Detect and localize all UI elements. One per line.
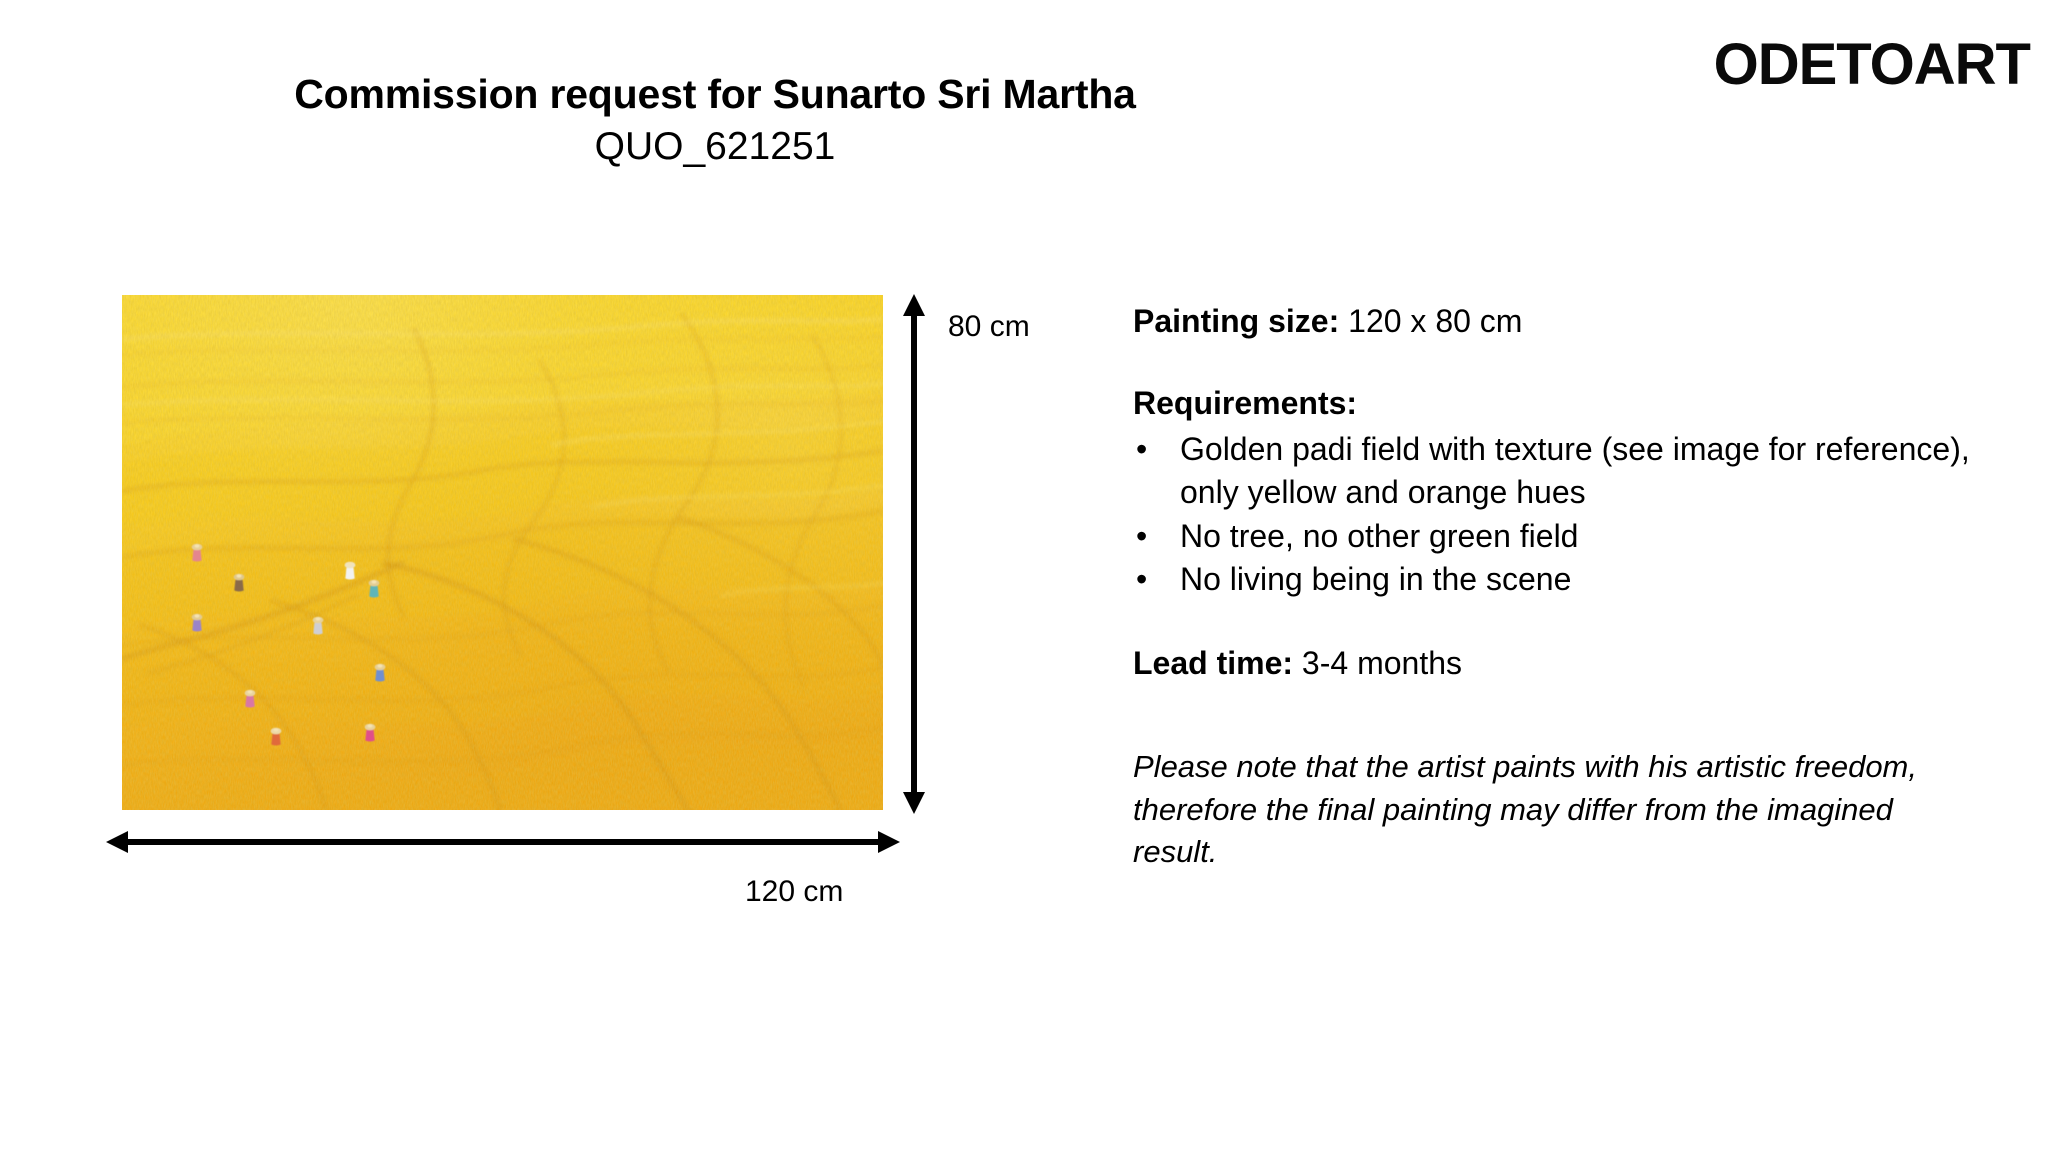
- farmer-figure: [375, 664, 386, 682]
- lead-time-label: Lead time:: [1133, 645, 1293, 681]
- bullet-icon: •: [1136, 428, 1147, 471]
- lead-time-row: Lead time: 3-4 months: [1133, 642, 1993, 684]
- farmer-figure: [345, 562, 356, 580]
- farmer-body: [245, 694, 254, 707]
- artistic-freedom-disclaimer: Please note that the artist paints with …: [1133, 746, 1923, 874]
- farmer-figure: [313, 617, 324, 635]
- list-item: • Golden padi field with texture (see im…: [1133, 428, 1993, 513]
- farmer-figure: [271, 728, 282, 746]
- farmer-figure: [245, 690, 256, 708]
- farmer-figure: [192, 614, 203, 632]
- farmer-figure: [369, 580, 380, 598]
- quote-number: QUO_621251: [0, 124, 1430, 171]
- farmer-figure: [192, 544, 203, 562]
- list-item-text: Golden padi field with texture (see imag…: [1180, 431, 1970, 510]
- list-item: • No tree, no other green field: [1133, 515, 1993, 558]
- list-item: • No living being in the scene: [1133, 558, 1993, 601]
- details-column: Painting size: 120 x 80 cm Requirements:…: [1133, 300, 1993, 874]
- painting-artwork-svg: [122, 295, 883, 810]
- painting-size-value: 120 x 80 cm: [1339, 303, 1522, 339]
- spacer: [1133, 602, 1993, 642]
- farmer-body: [375, 668, 384, 681]
- farmer-hat-crown: [368, 724, 373, 727]
- farmer-hat-crown: [195, 614, 200, 617]
- farmer-hat-crown: [248, 690, 253, 693]
- width-dimension-arrow: [104, 826, 902, 858]
- height-dimension-label: 80 cm: [948, 310, 1030, 344]
- lead-time-value: 3-4 months: [1293, 645, 1462, 681]
- width-dimension-label: 120 cm: [745, 875, 843, 909]
- painting-size-label: Painting size:: [1133, 303, 1339, 339]
- farmer-figure: [234, 574, 245, 592]
- farmer-body: [271, 732, 280, 745]
- farmer-body: [192, 548, 201, 561]
- farmer-hat-crown: [372, 580, 377, 583]
- farmer-body: [345, 566, 354, 579]
- painting-size-row: Painting size: 120 x 80 cm: [1133, 300, 1993, 342]
- farmer-body: [365, 728, 374, 741]
- reference-painting: [122, 295, 883, 810]
- farmer-hat-crown: [274, 728, 279, 731]
- bullet-icon: •: [1136, 558, 1147, 601]
- farmer-body: [369, 584, 378, 597]
- farmer-hat-crown: [378, 664, 383, 667]
- bullet-icon: •: [1136, 515, 1147, 558]
- height-dimension-arrow: [898, 292, 930, 816]
- farmer-body: [234, 578, 243, 591]
- requirements-list: • Golden padi field with texture (see im…: [1133, 428, 1993, 600]
- impasto-highlight-texture: [122, 295, 883, 810]
- requirements-heading: Requirements:: [1133, 382, 1993, 424]
- odetoart-logo: ODETOART: [1714, 36, 2030, 94]
- farmer-hat-crown: [195, 544, 200, 547]
- farmer-hat-crown: [348, 562, 353, 565]
- farmer-body: [192, 618, 201, 631]
- title-block: Commission request for Sunarto Sri Marth…: [0, 70, 1430, 171]
- farmer-body: [313, 621, 322, 634]
- farmer-figure: [365, 724, 376, 742]
- spacer: [1133, 342, 1993, 382]
- list-item-text: No tree, no other green field: [1180, 518, 1578, 554]
- list-item-text: No living being in the scene: [1180, 561, 1571, 597]
- farmer-hat-crown: [316, 617, 321, 620]
- farmer-hat-crown: [237, 574, 242, 577]
- page-title: Commission request for Sunarto Sri Marth…: [0, 70, 1430, 118]
